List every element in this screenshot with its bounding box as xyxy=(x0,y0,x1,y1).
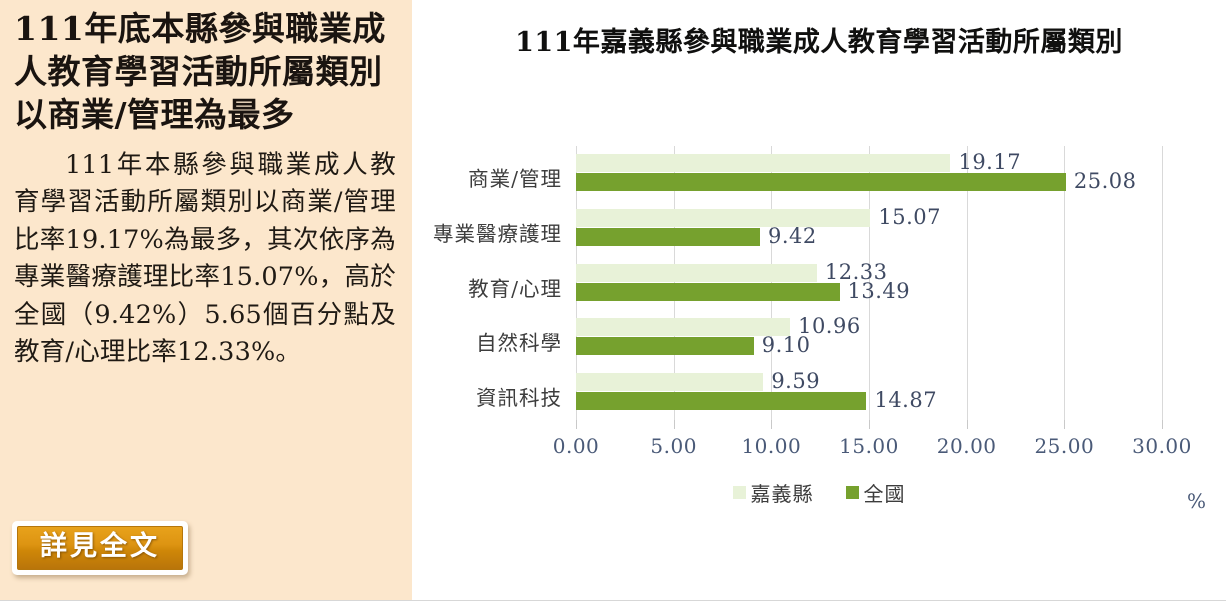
bar-value-label: 15.07 xyxy=(878,208,941,226)
legend-item[interactable]: 嘉義縣 xyxy=(733,478,814,507)
chart-legend: 嘉義縣全國 xyxy=(412,478,1226,507)
x-tick-mark xyxy=(967,420,968,429)
infographic-page: 111年底本縣參與職業成人教育學習活動所屬類別以商業/管理為最多 111年本縣參… xyxy=(0,0,1226,601)
x-tick-label: 15.00 xyxy=(839,434,899,458)
category-label: 自然科學 xyxy=(476,326,562,356)
read-more-button-wrapper[interactable]: 詳見全文 xyxy=(12,521,188,575)
legend-swatch-icon xyxy=(733,486,746,499)
x-tick-label: 20.00 xyxy=(937,434,997,458)
bar-value-label: 12.33 xyxy=(825,263,888,281)
bar-nation xyxy=(576,228,760,246)
x-tick-mark xyxy=(869,420,870,429)
x-tick-mark xyxy=(576,420,577,429)
bar-value-label: 9.42 xyxy=(768,227,817,245)
read-more-button-face[interactable]: 詳見全文 xyxy=(17,526,183,570)
legend-label: 嘉義縣 xyxy=(751,478,814,507)
legend-swatch-icon xyxy=(846,486,859,499)
axis-unit-label: % xyxy=(1187,489,1206,513)
bar-value-label: 19.17 xyxy=(958,153,1021,171)
bar-county xyxy=(576,209,870,227)
x-tick-label: 30.00 xyxy=(1132,434,1192,458)
bar-county xyxy=(576,373,763,391)
bar-value-label: 25.08 xyxy=(1074,172,1137,190)
x-tick-label: 10.00 xyxy=(741,434,801,458)
x-gridline xyxy=(1162,146,1163,420)
bar-value-label: 9.59 xyxy=(771,372,820,390)
bar-county xyxy=(576,154,950,172)
bar-group: 專業醫療護理15.079.42 xyxy=(576,209,1162,246)
category-label: 教育/心理 xyxy=(468,272,562,302)
x-tick-mark xyxy=(1162,420,1163,429)
x-tick-label: 0.00 xyxy=(553,434,600,458)
category-label: 專業醫療護理 xyxy=(433,217,562,247)
chart-plot-area: 0.005.0010.0015.0020.0025.0030.00商業/管理19… xyxy=(576,146,1162,420)
x-tick-mark xyxy=(771,420,772,429)
bar-group: 教育/心理12.3313.49 xyxy=(576,264,1162,301)
bar-value-label: 13.49 xyxy=(848,282,911,300)
legend-item[interactable]: 全國 xyxy=(846,478,906,507)
bar-county xyxy=(576,318,790,336)
bar-nation xyxy=(576,392,866,410)
bar-county xyxy=(576,264,817,282)
left-text-panel: 111年底本縣參與職業成人教育學習活動所屬類別以商業/管理為最多 111年本縣參… xyxy=(0,0,412,600)
read-more-button[interactable]: 詳見全文 xyxy=(12,521,188,575)
x-tick-label: 25.00 xyxy=(1034,434,1094,458)
x-tick-mark xyxy=(1064,420,1065,429)
bar-group: 自然科學10.969.10 xyxy=(576,318,1162,355)
bar-group: 資訊科技9.5914.87 xyxy=(576,373,1162,410)
bar-nation xyxy=(576,173,1066,191)
chart-panel: 111年嘉義縣參與職業成人教育學習活動所屬類別 0.005.0010.0015.… xyxy=(412,0,1226,600)
bar-value-label: 14.87 xyxy=(874,391,937,409)
category-label: 資訊科技 xyxy=(476,381,562,411)
chart-title: 111年嘉義縣參與職業成人教育學習活動所屬類別 xyxy=(412,20,1226,59)
summary-paragraph: 111年本縣參與職業成人教育學習活動所屬類別以商業/管理比率19.17%為最多，… xyxy=(14,147,396,372)
category-label: 商業/管理 xyxy=(468,162,562,192)
x-tick-label: 5.00 xyxy=(650,434,697,458)
page-title: 111年底本縣參與職業成人教育學習活動所屬類別以商業/管理為最多 xyxy=(14,8,396,137)
bar-group: 商業/管理19.1725.08 xyxy=(576,154,1162,191)
x-tick-mark xyxy=(674,420,675,429)
read-more-button-label: 詳見全文 xyxy=(40,531,160,562)
legend-label: 全國 xyxy=(864,478,906,507)
bar-nation xyxy=(576,283,840,301)
bar-value-label: 9.10 xyxy=(762,336,811,354)
bar-nation xyxy=(576,337,754,355)
